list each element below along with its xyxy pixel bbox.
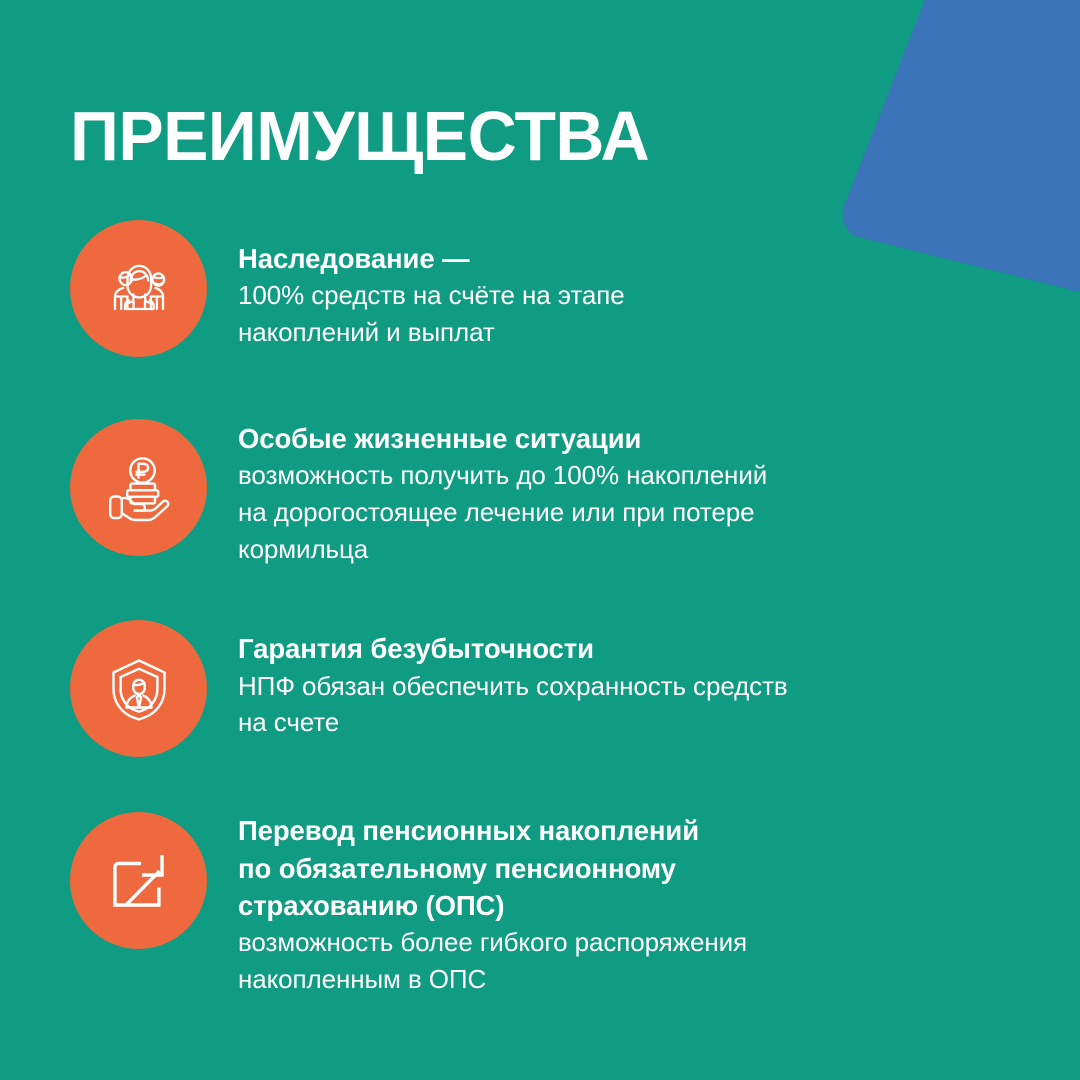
benefit-item-loss-protection-guarantee: Гарантия безубыточности НПФ обязан обесп… <box>0 620 1080 757</box>
hand-with-ruble-coins-icon <box>97 446 181 530</box>
benefit-heading: Наследование — <box>238 240 900 277</box>
benefit-body-line: 100% средств на счёте на этапе <box>238 277 900 314</box>
benefits-list: Наследование — 100% средств на счёте на … <box>0 196 1080 998</box>
benefit-heading: Гарантия безубыточности <box>238 630 900 667</box>
shield-with-person-icon <box>97 647 181 731</box>
family-group-icon <box>97 247 181 331</box>
page-title: ПРЕИМУЩЕСТВА <box>70 101 649 171</box>
benefit-heading: Особые жизненные ситуации <box>238 420 900 457</box>
benefit-body-line: возможность получить до 100% накоплений <box>238 457 900 494</box>
benefit-heading: страхованию (ОПС) <box>238 887 900 924</box>
benefit-item-special-life-situations: Особые жизненные ситуации возможность по… <box>0 419 1080 568</box>
benefit-icon-badge <box>70 620 207 757</box>
benefit-icon-badge <box>70 812 207 949</box>
benefit-text-block: Перевод пенсионных накоплений по обязате… <box>207 812 1080 998</box>
benefit-body-line: на счете <box>238 704 900 741</box>
benefit-icon-badge <box>70 220 207 357</box>
benefit-body-line: накоплений и выплат <box>238 314 900 351</box>
benefit-body-line: возможность более гибкого распоряжения <box>238 924 900 961</box>
benefit-body-line: кормильца <box>238 531 900 568</box>
benefit-body-line: на дорогостоящее лечение или при потере <box>238 494 900 531</box>
benefit-text-block: Гарантия безубыточности НПФ обязан обесп… <box>207 620 1080 741</box>
benefit-heading: Перевод пенсионных накоплений <box>238 812 900 849</box>
benefit-text-block: Наследование — 100% средств на счёте на … <box>207 220 1080 351</box>
benefit-item-inheritance: Наследование — 100% средств на счёте на … <box>0 220 1080 357</box>
transfer-out-arrow-icon <box>97 839 181 923</box>
benefit-icon-badge <box>70 419 207 556</box>
infographic-poster: ПРЕИМУЩЕСТВА <box>0 0 1080 1080</box>
benefit-text-block: Особые жизненные ситуации возможность по… <box>207 419 1080 568</box>
benefit-body-line: НПФ обязан обеспечить сохранность средст… <box>238 668 900 705</box>
benefit-item-transfer-pension-savings: Перевод пенсионных накоплений по обязате… <box>0 812 1080 998</box>
benefit-body-line: накопленным в ОПС <box>238 961 900 998</box>
benefit-heading: по обязательному пенсионному <box>238 850 900 887</box>
